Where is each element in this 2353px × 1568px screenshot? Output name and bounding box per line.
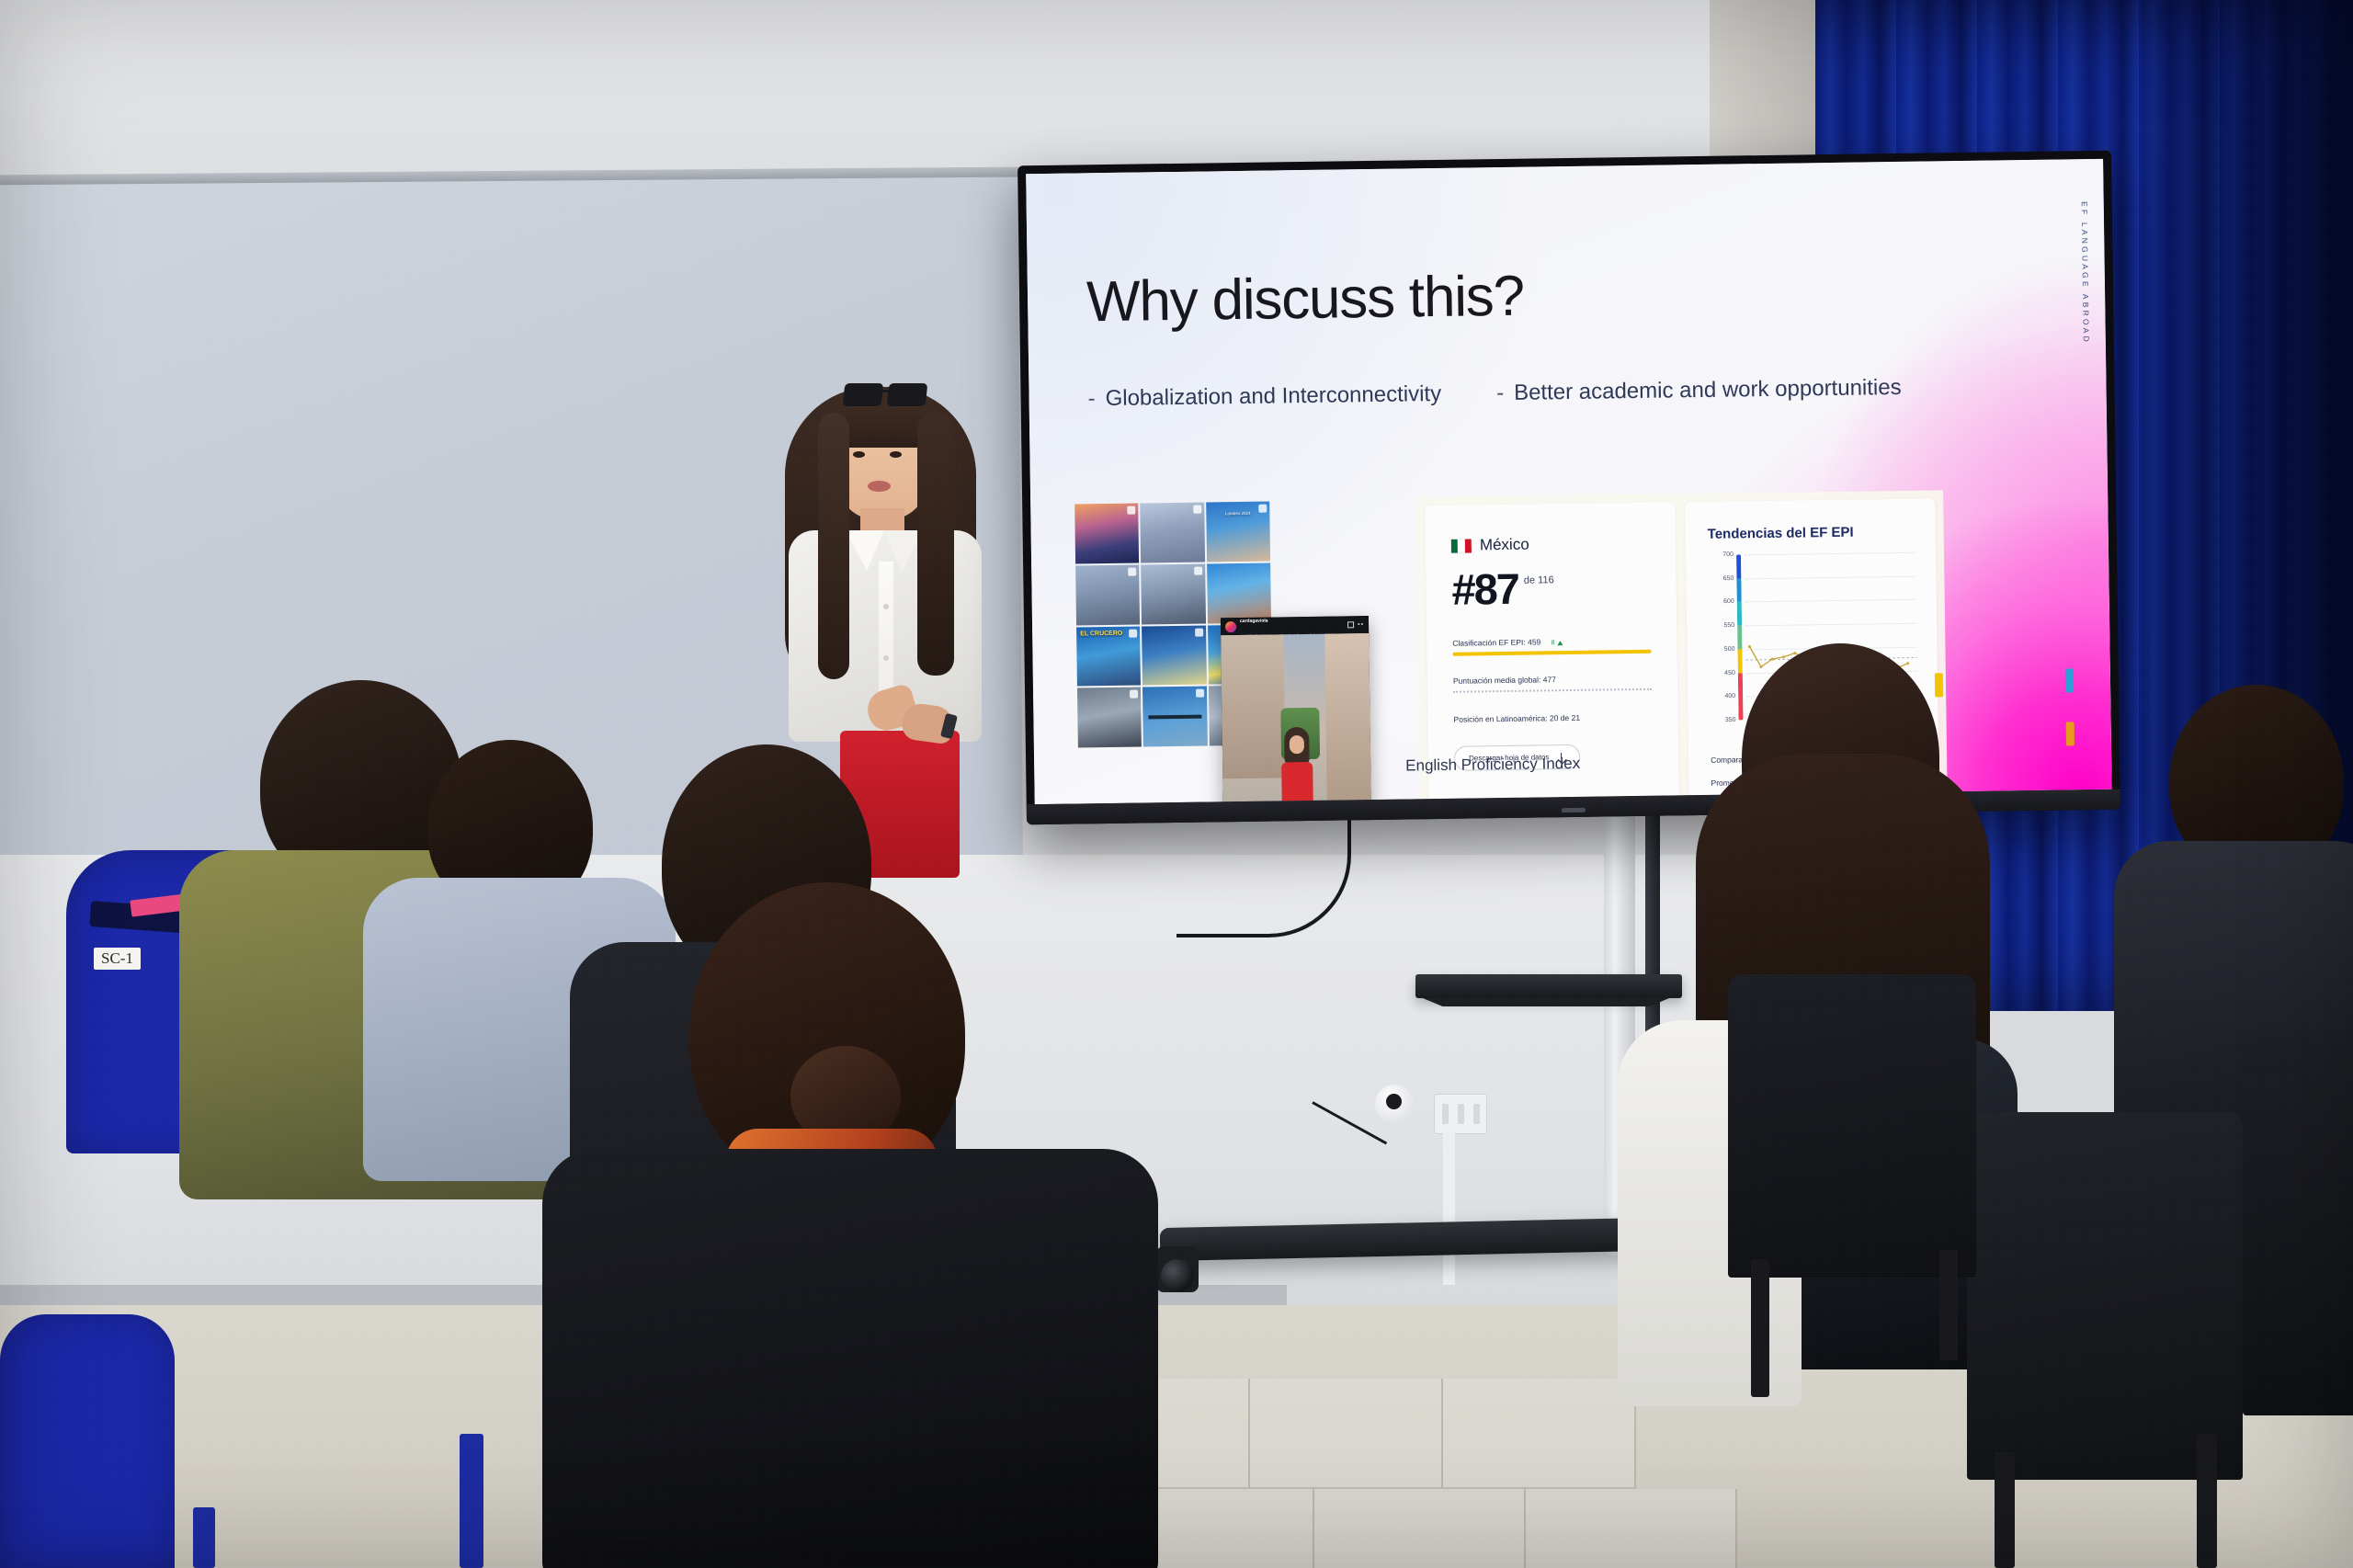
chart-y-tick: 600 <box>1723 598 1734 605</box>
square-icon[interactable] <box>1347 621 1354 628</box>
slide-caption: English Proficiency Index <box>1405 755 1580 776</box>
collage-photo <box>1141 563 1205 624</box>
country-row: México <box>1451 536 1529 555</box>
collage-photo <box>1077 687 1142 748</box>
collage-photo-caption: Londres 2024 <box>1210 511 1266 517</box>
ef-color-tabs <box>2063 488 2075 804</box>
rank-value: #87 <box>1451 569 1518 611</box>
score-label: Clasificación EF EPI: 459 <box>1452 637 1540 647</box>
chair-leg <box>1939 1250 1958 1360</box>
reel-header: cardagaviola JAY-Z - Empire State Of Min… <box>1221 616 1369 635</box>
photo-badge-icon <box>1130 690 1138 699</box>
collage-photo <box>1074 504 1139 564</box>
ceiling-column <box>1710 0 1820 175</box>
brand-watermark: EF LANGUAGE ABROAD <box>2080 201 2091 345</box>
collage-photo <box>1142 625 1206 686</box>
microphone-head <box>1386 1094 1402 1109</box>
score-row: Clasificación EF EPI: 459 8 <box>1452 636 1651 648</box>
bullet-item-0: - Globalization and Interconnectivity <box>1087 381 1441 412</box>
classroom-scene: Why discuss this? - Globalization and In… <box>0 0 2353 1568</box>
photo-badge-icon <box>1196 689 1204 698</box>
chart-y-tick: 700 <box>1722 551 1733 558</box>
slide-bullets: - Globalization and Interconnectivity - … <box>1087 375 1901 412</box>
chart-title: Tendencias del EF EPI <box>1708 525 1854 542</box>
color-tab-blue <box>2065 668 2074 692</box>
collage-photo: Londres 2024 <box>1206 502 1270 562</box>
more-dots-icon[interactable]: ▪▪ <box>1358 621 1364 628</box>
caster-wheel <box>1156 1246 1199 1292</box>
reel-username: cardagaviola <box>1240 618 1268 623</box>
reel-building-right <box>1324 633 1371 800</box>
audience-torso <box>542 1149 1158 1568</box>
presenter-hair-strand-right <box>917 413 954 676</box>
bullet-item-1: - Better academic and work opportunities <box>1496 375 1902 406</box>
tv-stand-shelf <box>1415 974 1682 998</box>
tv-stand-shelf-arm <box>1423 998 1669 1006</box>
photo-badge-icon <box>1258 505 1267 513</box>
avatar <box>1225 621 1236 632</box>
collage-photo <box>1207 562 1271 623</box>
sunglasses-on-head-icon <box>844 383 932 409</box>
trend-value: 8 <box>1552 640 1555 646</box>
bullet-dash: - <box>1087 386 1095 412</box>
presenter-hair-strand-left <box>818 413 849 679</box>
outlet-conduit <box>1443 1132 1455 1285</box>
audience-chair[interactable] <box>2243 1029 2353 1415</box>
presenter-eye-right <box>890 451 902 458</box>
audience-chair[interactable] <box>1728 974 1976 1278</box>
audience-member <box>542 882 1158 1568</box>
photo-badge-icon <box>1128 506 1136 515</box>
shirt-button <box>883 604 889 609</box>
country-name: México <box>1480 536 1529 555</box>
shirt-button <box>883 655 889 661</box>
chair-id-label: SC-1 <box>94 948 141 970</box>
collage-photo: EL CRUCERO <box>1076 626 1141 687</box>
photo-badge-icon <box>1195 628 1203 636</box>
triangle-up-icon <box>1558 641 1563 645</box>
latam-position-row: Posición en Latinoamérica: 20 de 21 <box>1453 712 1652 724</box>
mexico-flag-icon <box>1451 539 1472 552</box>
bullet-dash: - <box>1496 381 1504 406</box>
trend-chip: 8 <box>1552 640 1563 646</box>
collage-photo <box>1142 687 1207 747</box>
collage-photo <box>1141 503 1205 563</box>
collage-photo-title: EL CRUCERO <box>1080 630 1122 637</box>
global-average-bar <box>1453 688 1652 693</box>
empty-chair[interactable] <box>0 1314 175 1568</box>
photo-badge-icon <box>1129 629 1137 637</box>
microphone-stand <box>1305 1085 1415 1186</box>
presenter-eye-left <box>853 451 865 458</box>
collage-photo-caption <box>1149 715 1201 720</box>
instagram-reel-overlay[interactable]: cardagaviola JAY-Z - Empire State Of Min… <box>1221 616 1372 804</box>
audience-chair[interactable] <box>1967 1112 2243 1480</box>
collage-photo <box>1075 564 1140 625</box>
rank-total: de 116 <box>1524 574 1554 585</box>
chair-leg <box>460 1434 483 1568</box>
photo-badge-icon <box>1128 567 1136 575</box>
bullet-text: Globalization and Interconnectivity <box>1105 381 1441 412</box>
tv-brand-logo <box>1562 808 1586 812</box>
presenter-mouth <box>868 481 891 492</box>
chair-leg <box>2197 1434 2217 1568</box>
photo-badge-icon <box>1193 506 1201 514</box>
photo-badge-icon <box>1194 566 1202 574</box>
rank-row: #87 de 116 <box>1451 568 1554 610</box>
reel-person <box>1273 727 1321 804</box>
score-bar <box>1452 650 1651 656</box>
bullet-text: Better academic and work opportunities <box>1514 375 1902 406</box>
color-tab-orange <box>2066 722 2075 745</box>
reel-video-frame[interactable] <box>1221 633 1371 804</box>
chair-leg <box>1751 1259 1769 1397</box>
slide-title: Why discuss this? <box>1086 264 1525 335</box>
upper-wall <box>0 0 1746 184</box>
global-average-row: Puntuación media global: 477 <box>1453 674 1652 686</box>
chair-leg <box>1995 1452 2015 1568</box>
chart-y-tick: 650 <box>1723 575 1734 582</box>
wall-outlet <box>1434 1094 1487 1134</box>
chair-leg <box>193 1507 215 1568</box>
chart-y-tick: 550 <box>1723 622 1734 629</box>
